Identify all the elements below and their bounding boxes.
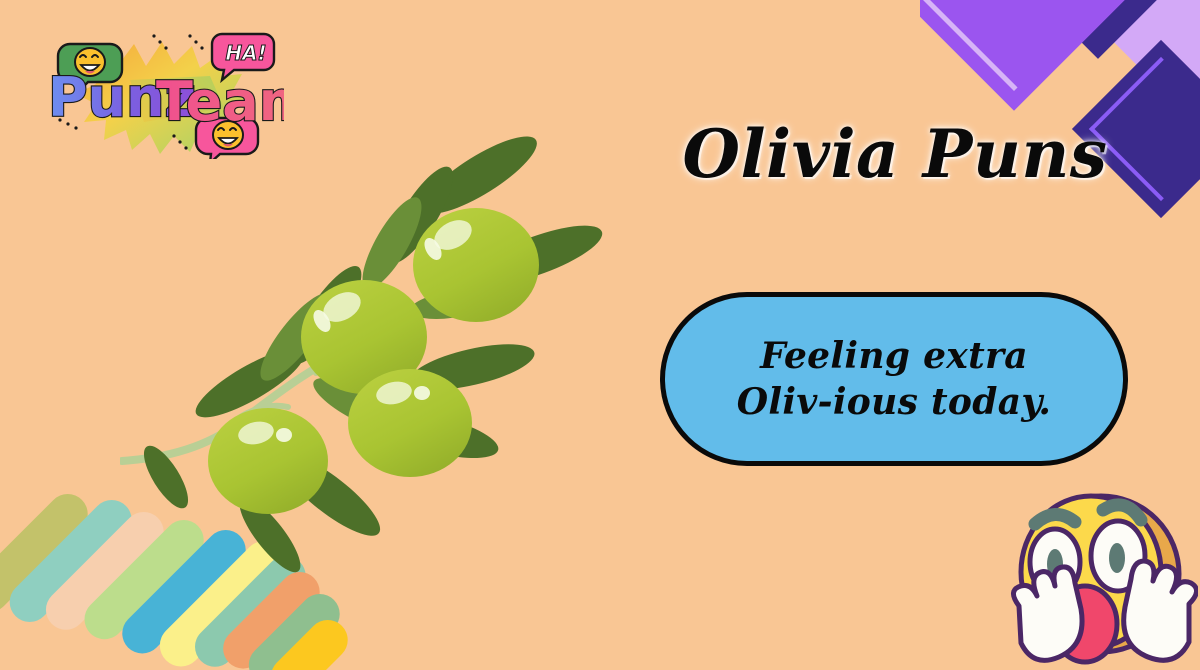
stripe-olive (0, 486, 96, 620)
ha-badge-text: HA! (225, 41, 266, 65)
stripe-gold (263, 612, 356, 670)
chevron-indigo-bar (1013, 0, 1183, 59)
caption-line-2: Oliv-ious today. (737, 379, 1052, 425)
chevron-medium-purple (920, 0, 1133, 111)
stripe-green (241, 586, 348, 670)
poster-canvas: HA! Punz Team (0, 0, 1200, 670)
olive-branch-illustration (120, 105, 620, 585)
olive-fruit (413, 208, 539, 322)
page-title: Olivia Puns (660, 108, 1130, 200)
block-pale-lilac (1061, 0, 1200, 109)
face-screaming-in-fear-emoji (1003, 476, 1198, 670)
caption-bubble: Feeling extra Oliv-ious today. (660, 292, 1128, 466)
olive-fruit (208, 408, 328, 514)
hand-right (1124, 561, 1197, 660)
caption-line-1: Feeling extra (760, 333, 1028, 379)
olive-fruit (348, 369, 472, 477)
